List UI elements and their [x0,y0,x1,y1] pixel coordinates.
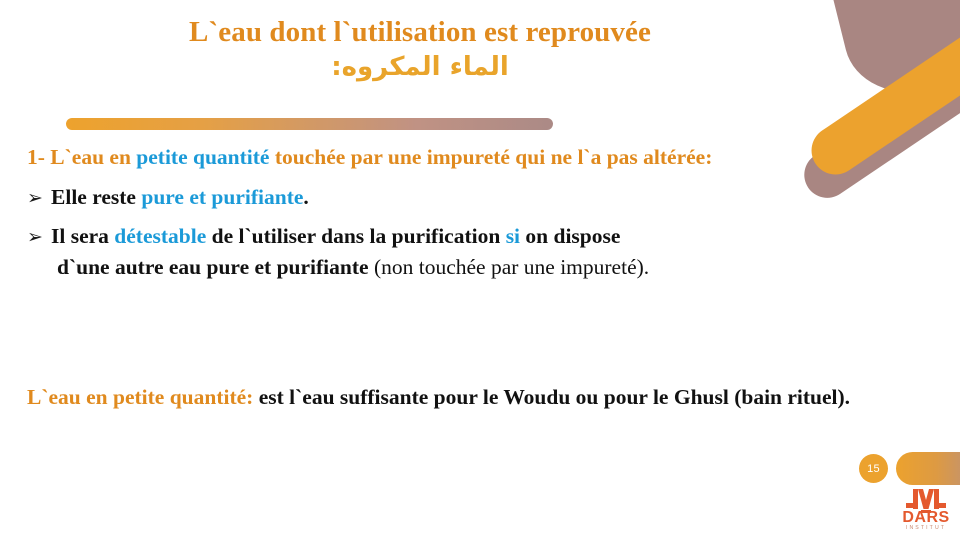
continuation-bold-part: d`une autre eau pure et purifiante [57,255,374,279]
paragraph-one: 1- L`eau en petite quantité touchée par … [27,143,907,172]
logo-tagline: INSTITUT [897,526,955,531]
paragraph-two-lead: L`eau en petite quantité: [27,385,253,409]
list-item: ➢Il sera détestable de l`utiliser dans l… [27,222,927,251]
slide-title: L`eau dont l`utilisation est reprouvée [0,16,840,48]
body-content: 1- L`eau en petite quantité touchée par … [27,143,927,281]
logo-wordmark: DARS [897,510,955,526]
list-item: ➢Elle reste pure et purifiante. [27,183,927,212]
bullet-text-part: si [506,224,520,248]
paragraph-two: L`eau en petite quantité: est l`eau suff… [27,382,932,413]
slide-canvas: L`eau dont l`utilisation est reprouvée ا… [0,0,960,540]
paragraph-one-prefix: 1- L`eau en [27,145,136,169]
title-divider [66,118,553,130]
bullet-text-part: Elle reste [51,185,141,209]
arrow-bullet-icon: ➢ [27,225,51,250]
list-item-continuation: d`une autre eau pure et purifiante (non … [27,253,927,282]
mauve-blob-shape [824,0,960,108]
title-block: L`eau dont l`utilisation est reprouvée ا… [0,16,840,84]
footer-pill-shape [896,452,960,485]
slide-title-arabic: الماء المكروه: [0,52,840,83]
bullet-text-part: de l`utiliser dans la purification [206,224,505,248]
bullet-text-part: détestable [114,224,206,248]
bullet-text-part: pure et purifiante [141,185,303,209]
paragraph-one-suffix: touchée par une impureté qui ne l`a pas … [269,145,712,169]
continuation-plain-part: (non touchée par une impureté). [374,255,649,279]
bullet-text-part: . [303,185,308,209]
bullet-text-part: on dispose [520,224,620,248]
paragraph-one-highlight: petite quantité [136,145,269,169]
dars-institut-logo: DARS INSTITUT [897,487,955,535]
paragraph-two-rest: est l`eau suffisante pour le Woudu ou po… [253,385,850,409]
page-number-badge: 15 [859,454,888,483]
bullet-text-part: Il sera [51,224,114,248]
arrow-bullet-icon: ➢ [27,186,51,211]
